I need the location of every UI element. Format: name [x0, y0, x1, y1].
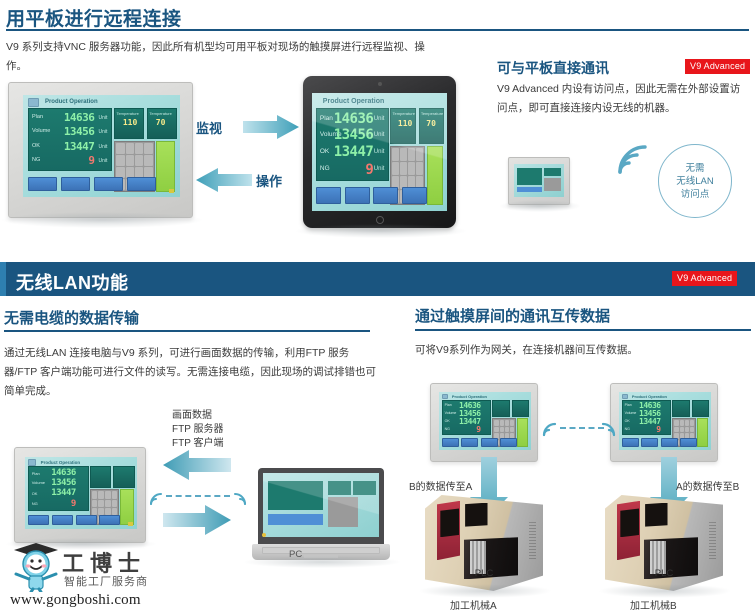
hmi-row-label: Volume [445, 411, 457, 415]
hmi-data-row: Plan 14636 Unit [32, 110, 108, 123]
section1-title: 用平板进行远程连接 [6, 4, 182, 31]
hmi-screen-title: Product Operation [41, 460, 81, 465]
hmi-data-row: NG 9 Unit [32, 154, 108, 167]
hmi-panel-screen-a: Product Operation Plan14636 Volume13456 … [439, 392, 531, 450]
arrow-left-operate-icon [196, 168, 252, 192]
hmi-data-row: Volume 13456 Unit [32, 125, 108, 138]
note-line: 无线LAN [676, 175, 713, 188]
hmi-data-row: OK 13447 Unit [32, 139, 108, 152]
hmi-led-indicator [28, 98, 39, 107]
small-hmi-device [508, 157, 570, 205]
machine-b-shadow [598, 584, 732, 598]
brand-tagline: 智能工厂服务商 [64, 573, 148, 589]
hmi-row-value: 9 [656, 425, 660, 434]
hmi-row-unit: Unit [98, 158, 107, 164]
small-hmi-shadow [500, 200, 580, 212]
hmi-gauge: Temperature 70 [147, 108, 177, 139]
section2-left-heading: 无需电缆的数据传输 [4, 307, 139, 328]
tablet-shadow [296, 224, 466, 238]
hmi-row-label: Plan [320, 115, 333, 122]
hmi-row-label: NG [32, 157, 40, 163]
hmi-data-row: NG 9 Unit [320, 161, 385, 176]
hmi-row-unit: Unit [374, 132, 385, 138]
hmi-row-label: NG [445, 427, 450, 431]
arrow-left-upload-icon [163, 450, 231, 480]
tablet-data-group: Plan 14636 Unit Volume 13456 Unit OK 134… [316, 108, 389, 181]
hmi-enter-key [120, 489, 133, 525]
hmi-button [402, 187, 427, 204]
hmi-row-value: 14636 [334, 111, 374, 127]
laptop-screen [263, 473, 379, 537]
tablet-camera-icon [378, 82, 382, 86]
hmi-row-label: OK [32, 491, 38, 496]
hmi-gauge: Temperature 110 [114, 108, 144, 139]
arrow-right-download-icon [163, 505, 231, 535]
hmi-gauge-title: Temperature [392, 111, 414, 116]
hmi-row-label: OK [320, 148, 329, 155]
hmi-row-unit: Unit [98, 129, 107, 135]
plc-label-a: PLC [425, 568, 543, 579]
hmi-panel-screen-b: Product Operation Plan14636 Volume13456 … [619, 392, 711, 450]
section1-divider [6, 29, 749, 31]
hmi-gauge [90, 466, 111, 488]
hmi-row-value: 13447 [64, 140, 95, 153]
section2-right-body: 可将V9系列作为网关，在连接机器间互传数据。 [415, 341, 751, 360]
hmi-screen-title: Product Operation [45, 99, 98, 105]
hmi-gauge-value: 70 [426, 119, 436, 128]
label-b-to-a: B的数据传至A [409, 478, 472, 493]
tablet-device: Product Operation Plan 14636 Unit Volume… [303, 76, 456, 228]
hmi-gauge [512, 400, 529, 417]
hmi-row-value: 9 [365, 162, 373, 178]
hmi-panel-device-left2: Product Operation Plan14636 Volume13456 … [14, 447, 146, 543]
no-access-point-note: 无需 无线LAN 访问点 [658, 144, 732, 218]
hmi-button [373, 187, 398, 204]
plc-label-b: PLC [605, 568, 723, 579]
machine-b-illustration: PLC [605, 495, 723, 591]
hmi-row-unit: Unit [98, 144, 107, 150]
hmi-row-label: Plan [625, 403, 632, 407]
arrow-monitor-label: 监视 [196, 118, 222, 137]
hmi-button-row [316, 187, 427, 204]
hmi-row-value: 9 [71, 499, 76, 509]
hmi-button [28, 177, 57, 191]
hmi-button-row [442, 438, 517, 446]
laptop-device [252, 468, 390, 562]
hmi-gauge: Temperature 110 [390, 108, 416, 143]
hmi-panel-device-a: Product Operation Plan14636 Volume13456 … [430, 383, 538, 462]
hmi-enter-key [156, 141, 175, 192]
hmi-row-value: 13456 [51, 478, 76, 488]
hmi-data-group: Plan14636 Volume13456 OK13447 NG9 [442, 400, 492, 436]
hmi-row-value: 13447 [51, 488, 76, 498]
arrow-operate-label: 操作 [256, 171, 282, 190]
hmi-panel-device-b: Product Operation Plan14636 Volume13456 … [610, 383, 718, 462]
hmi-button [345, 187, 370, 204]
transfer-label-ftp-server: FTP 服务器 [172, 420, 223, 435]
hmi-row-value: 9 [88, 154, 94, 167]
hmi-panel-device: Product Operation Plan 14636 Unit Volume… [8, 82, 193, 218]
hmi-data-group: Plan14636 Volume13456 OK13447 NG9 [28, 466, 88, 511]
hmi-row-value: 13456 [64, 125, 95, 138]
wireless-link-dashes-ab [560, 427, 604, 429]
hmi-button [94, 177, 123, 191]
hmi-gauge: Temperature 70 [419, 108, 445, 143]
hmi-enter-key [517, 418, 528, 447]
hmi-row-unit: Unit [374, 166, 385, 172]
hmi-row-label: NG [625, 427, 630, 431]
hmi-row-label: Volume [32, 480, 45, 485]
section2-right-heading: 通过触摸屏间的通讯互传数据 [415, 305, 610, 326]
footer-logo: 工博士 智能工厂服务商 www.gongboshi.com [4, 540, 194, 614]
hmi-status-dot [169, 189, 174, 193]
hmi-gauge-title: Temperature [116, 111, 138, 116]
hmi-led-indicator [28, 459, 36, 465]
hmi-gauge-value: 110 [398, 119, 412, 128]
hmi-row-label: Volume [625, 411, 637, 415]
tablet-home-button [376, 216, 384, 224]
wifi-signal-icon [614, 142, 650, 176]
brand-url: www.gongboshi.com [10, 592, 141, 609]
section2-left-body: 通过无线LAN 连接电脑与V9 系列，可进行画面数据的传输，利用FTP 服务器/… [4, 344, 379, 401]
hmi-gauge [692, 400, 709, 417]
transfer-label-screen-data: 画面数据 [172, 406, 212, 421]
hmi-row-label: Plan [32, 471, 40, 476]
hmi-row-value: 14636 [64, 111, 95, 124]
hmi-button [127, 177, 156, 191]
hmi-gauge-value: 70 [156, 118, 166, 127]
hmi-row-value: 13456 [334, 127, 374, 143]
hmi-row-value: 14636 [51, 468, 76, 478]
hmi-status-dot [128, 522, 133, 526]
hmi-led-indicator [442, 394, 448, 399]
hmi-row-unit: Unit [374, 116, 385, 122]
section2-right-heading-rule [415, 329, 751, 331]
machine-a-caption: 加工机械A [450, 597, 497, 612]
hmi-button-row [28, 515, 120, 525]
hmi-row-label: OK [445, 419, 450, 423]
section1-intro-text: V9 系列支持VNC 服务器功能，因此所有机型均可用平板对现场的触摸屏进行远程监… [6, 38, 426, 76]
mascot-icon [8, 540, 64, 592]
hmi-panel-shadow [2, 212, 202, 228]
hmi-led-indicator [622, 394, 628, 399]
hmi-gauge [113, 466, 134, 488]
hmi-row-label: NG [32, 501, 38, 506]
wifi-signal-small-left-icon [148, 487, 164, 507]
badge-v9-advanced-top: V9 Advanced [685, 59, 750, 74]
wifi-signal-b-icon [600, 418, 618, 438]
hmi-row-label: NG [320, 165, 330, 172]
hmi-button-row [622, 438, 697, 446]
hmi-row-label: Plan [32, 114, 43, 120]
laptop-power-led [262, 533, 266, 537]
hmi-data-row: Plan 14636 Unit [320, 111, 385, 126]
hmi-gauge-value: 110 [123, 118, 137, 127]
hmi-data-group: Plan14636 Volume13456 OK13447 NG9 [622, 400, 672, 436]
machine-a-shadow [418, 584, 552, 598]
laptop-lid [258, 468, 384, 544]
hmi-row-unit: Unit [374, 149, 385, 155]
page-root: 用平板进行远程连接 V9 系列支持VNC 服务器功能，因此所有机型均可用平板对现… [0, 0, 755, 616]
hmi-gauge-title: Temperature [149, 111, 171, 116]
wireless-link-dashes [166, 495, 230, 497]
hmi-gauge-title: Temperature [421, 111, 443, 116]
arrow-right-monitor-icon [243, 115, 299, 139]
machine-b-caption: 加工机械B [630, 597, 677, 612]
hmi-button [61, 177, 90, 191]
section2-bar-accent [0, 262, 6, 296]
hmi-enter-key [697, 418, 708, 447]
tablet-screen: Product Operation Plan 14636 Unit Volume… [312, 93, 447, 211]
hmi-row-value: 9 [476, 425, 480, 434]
section2-bar-title: 无线LAN功能 [16, 269, 129, 295]
hmi-row-label: Plan [445, 403, 452, 407]
small-hmi-screen [514, 164, 563, 197]
hmi-gauge [672, 400, 689, 417]
hmi-row-label: OK [32, 143, 40, 149]
laptop-keyboard [262, 547, 380, 554]
section1-right-body: V9 Advanced 内设有访问点，因此无需在外部设置访问点，即可直接连接内设… [497, 80, 747, 118]
hmi-button [316, 187, 341, 204]
wifi-signal-small-right-icon [232, 487, 248, 507]
hmi-row-value: 13447 [334, 144, 374, 160]
tablet-screen-title: Product Operation [323, 98, 384, 105]
section2-header-bar: 无线LAN功能 [0, 262, 755, 296]
machine-a-illustration: PLC [425, 495, 543, 591]
hmi-row-label: Volume [32, 128, 50, 134]
section2-left-heading-rule [4, 330, 370, 332]
note-line: 无需 [685, 162, 704, 175]
laptop-shadow [244, 556, 400, 568]
label-a-to-b: A的数据传至B [676, 478, 739, 493]
hmi-row-unit: Unit [98, 115, 107, 121]
hmi-data-row: OK 13447 Unit [320, 144, 385, 159]
hmi-data-group: Plan 14636 Unit Volume 13456 Unit OK 134… [28, 108, 113, 171]
badge-v9-advanced-section2: V9 Advanced [672, 271, 737, 286]
hmi-button-row [28, 177, 157, 191]
hmi-panel-screen: Product Operation Plan 14636 Unit Volume… [23, 95, 180, 197]
hmi-data-row: Volume 13456 Unit [320, 127, 385, 142]
wifi-signal-a-icon [540, 418, 558, 438]
section1-right-heading: 可与平板直接通讯 [497, 58, 609, 78]
hmi-enter-key [427, 146, 443, 205]
pc-caption: PC [289, 549, 302, 560]
hmi-panel-screen-left2: Product Operation Plan14636 Volume13456 … [25, 457, 137, 529]
transfer-label-ftp-client: FTP 客户端 [172, 434, 223, 449]
note-line: 访问点 [681, 188, 710, 201]
hmi-row-label: OK [625, 419, 630, 423]
hmi-gauge [492, 400, 509, 417]
